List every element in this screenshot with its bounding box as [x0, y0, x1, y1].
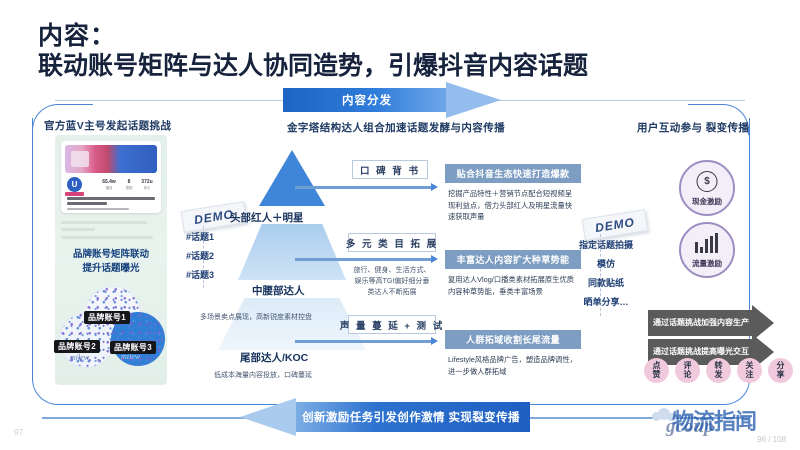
engagement-comment-l2: 论 [684, 370, 692, 379]
cash-icon: $ [697, 171, 718, 192]
connector-arrow-1-icon [295, 186, 432, 189]
card-stat-value: 8 [119, 179, 139, 185]
brand-matrix-title: 品牌账号矩阵联动 提升话题曝光 [55, 248, 167, 276]
connector-label-2: 多 元 类 目 拓 展 [348, 233, 436, 252]
content-box-2-body: 复用达人Vlog/口播类素材拓展原生优质内容种草势能，垂类丰富场景 [445, 269, 581, 297]
demo-right-list: 指定话题拍摄 模仿 同款贴纸 晒单分享… [570, 236, 642, 312]
bottom-banner-label: 创新激励任务引发创作激情 实现裂变传播 [292, 402, 530, 432]
page-title: 内容： 联动账号矩阵与达人协同造势，引爆抖音内容话题 [38, 22, 738, 81]
demo-left-item: #话题3 [186, 266, 214, 285]
watermark-cn: 物流指闻 [672, 404, 756, 436]
brand-account-venn: milew milew milew 品牌账号1 品牌账号2 品牌账号3 [58, 286, 166, 358]
content-box-3-body: Lifestyle风格品牌广告，塑造品牌调性，进一步做人群拓域 [445, 349, 581, 377]
engagement-like-l2: 赞 [653, 370, 661, 379]
card-title-line2 [67, 202, 107, 205]
brand-matrix-title-text: 品牌账号矩阵联动 提升话题曝光 [73, 249, 149, 274]
top-banner-arrow: 内容分发 [283, 88, 501, 112]
brand-account-label-1: 品牌账号1 [84, 311, 130, 324]
pyramid-tier-3-caption: 低成本海量内容投放，口碑蔓延 [214, 370, 312, 380]
demo-right-item: 模仿 [570, 255, 642, 274]
gray-arrow-1-label: 通过话题挑战加强内容生产 [648, 310, 754, 336]
content-box-1-body: 挖掘产品特性＋营销节点配合短视频呈现利益点，借力头部红人及明星流量快速获取声量 [445, 183, 581, 223]
engagement-share: 分享 [768, 358, 793, 383]
bottom-banner-arrow: 创新激励任务引发创作激情 实现裂变传播 [240, 402, 530, 432]
title-line-1: 内容： [38, 22, 738, 51]
card-subtitle-line [67, 208, 129, 210]
pyramid-tier-1-label: 头部红人＋明星 [230, 210, 304, 225]
left-column-header: 官方蓝V主号发起话题挑战 [44, 118, 171, 133]
pyramid-tier-1-shape [259, 150, 325, 206]
verified-badge [65, 192, 84, 196]
top-banner-label: 内容分发 [283, 88, 451, 112]
connector-label-1: 口 碑 背 书 [352, 160, 428, 179]
placeholder-line [61, 236, 153, 239]
engagement-follow-l2: 注 [746, 370, 754, 379]
placeholder-line [61, 221, 147, 224]
incentive-cash: $ 现金激励 [679, 160, 735, 216]
card-stat: 372u 参与 [137, 179, 157, 190]
challenge-card: 65.4w 播放 8 视频 372u 参与 [61, 141, 161, 213]
bottom-banner-arrowhead-icon [240, 398, 296, 436]
demo-left-list: #话题1 #话题2 #话题3 [186, 228, 214, 285]
slide-root: 内容： 联动账号矩阵与达人协同造势，引爆抖音内容话题 内容分发 官方蓝V主号发起… [0, 0, 800, 450]
gray-arrow-1: 通过话题挑战加强内容生产 [648, 310, 776, 336]
demo-right-item: 同款贴纸 [570, 274, 642, 293]
content-box-3: 人群拓域收割长尾流量 Lifestyle风格品牌广告，塑造品牌调性，进一步做人群… [445, 330, 581, 377]
traffic-chart-icon [695, 233, 719, 253]
card-title-line [67, 197, 155, 200]
signature-2: milew [70, 353, 89, 362]
engagement-share-repost: 转发 [706, 358, 731, 383]
engagement-repost-l2: 发 [715, 370, 723, 379]
connector-label-3: 声 量 蔓 延 + 测 试 [348, 315, 436, 334]
connector-note-2: 旅行、健身、生活方式、 娱乐等高TGI偏好细分垂 类达人不断拓展 [337, 266, 447, 299]
engagement-like: 点赞 [644, 358, 669, 383]
demo-left-item: #话题2 [186, 247, 214, 266]
pyramid-tier-2-label: 中腰部达人 [252, 283, 305, 298]
card-banner-image [65, 145, 157, 173]
incentive-traffic-label: 流量激励 [681, 258, 733, 269]
connector-arrow-3-icon [295, 340, 432, 343]
page-indicator: 96 / 108 [757, 435, 786, 444]
page-number: 97 [14, 428, 23, 437]
card-stat: 65.4w 播放 [99, 179, 119, 190]
card-stat-label: 播放 [106, 186, 113, 190]
card-stat-label: 视频 [126, 186, 133, 190]
right-column-header: 用户互动参与 裂变传播 [637, 120, 749, 135]
engagement-comment: 评论 [675, 358, 700, 383]
card-stat-value: 65.4w [99, 179, 119, 185]
title-line-2: 联动账号矩阵与达人协同造势，引爆抖音内容话题 [38, 51, 738, 81]
pyramid-tier-2-caption: 多场景卖点展现，高新锐度素材控盘 [200, 312, 312, 322]
mid-column-header: 金字塔结构达人组合加速话题发酵与内容传播 [287, 120, 505, 135]
placeholder-line [61, 228, 95, 231]
demo-right-item: 晒单分享… [570, 293, 642, 312]
top-banner-arrowhead-icon [446, 82, 501, 118]
watermark: gcoup 物流指闻 96 / 108 [650, 400, 790, 446]
content-box-1-heading: 贴合抖音生态快速打造爆款 [445, 164, 581, 183]
card-stat-value: 372u [137, 179, 157, 185]
card-stat: 8 视频 [119, 179, 139, 190]
influencer-pyramid: 头部红人＋明星 中腰部达人 尾部达人/KOC 多场景卖点展现，高新锐度素材控盘 … [232, 150, 352, 378]
content-box-2: 丰富达人内容扩大种草势能 复用达人Vlog/口播类素材拓展原生优质内容种草势能，… [445, 250, 581, 297]
avatar [67, 177, 82, 192]
demo-left-item: #话题1 [186, 228, 214, 247]
content-box-1: 贴合抖音生态快速打造爆款 挖掘产品特性＋营销节点配合短视频呈现利益点，借力头部红… [445, 164, 581, 223]
pyramid-tier-3-label: 尾部达人/KOC [240, 350, 308, 365]
content-box-2-heading: 丰富达人内容扩大种草势能 [445, 250, 581, 269]
connector-arrow-2-icon [295, 258, 432, 261]
incentive-cash-label: 现金激励 [681, 196, 733, 207]
brand-account-label-3: 品牌账号3 [110, 341, 156, 354]
brand-account-label-2: 品牌账号2 [54, 340, 100, 353]
engagement-share-l2: 享 [777, 370, 785, 379]
content-box-3-heading: 人群拓域收割长尾流量 [445, 330, 581, 349]
engagement-follow: 关注 [737, 358, 762, 383]
demo-right-item: 指定话题拍摄 [570, 236, 642, 255]
card-stat-label: 参与 [144, 186, 151, 190]
incentive-traffic: 流量激励 [679, 222, 735, 278]
pyramid-tier-2-shape [238, 224, 346, 280]
